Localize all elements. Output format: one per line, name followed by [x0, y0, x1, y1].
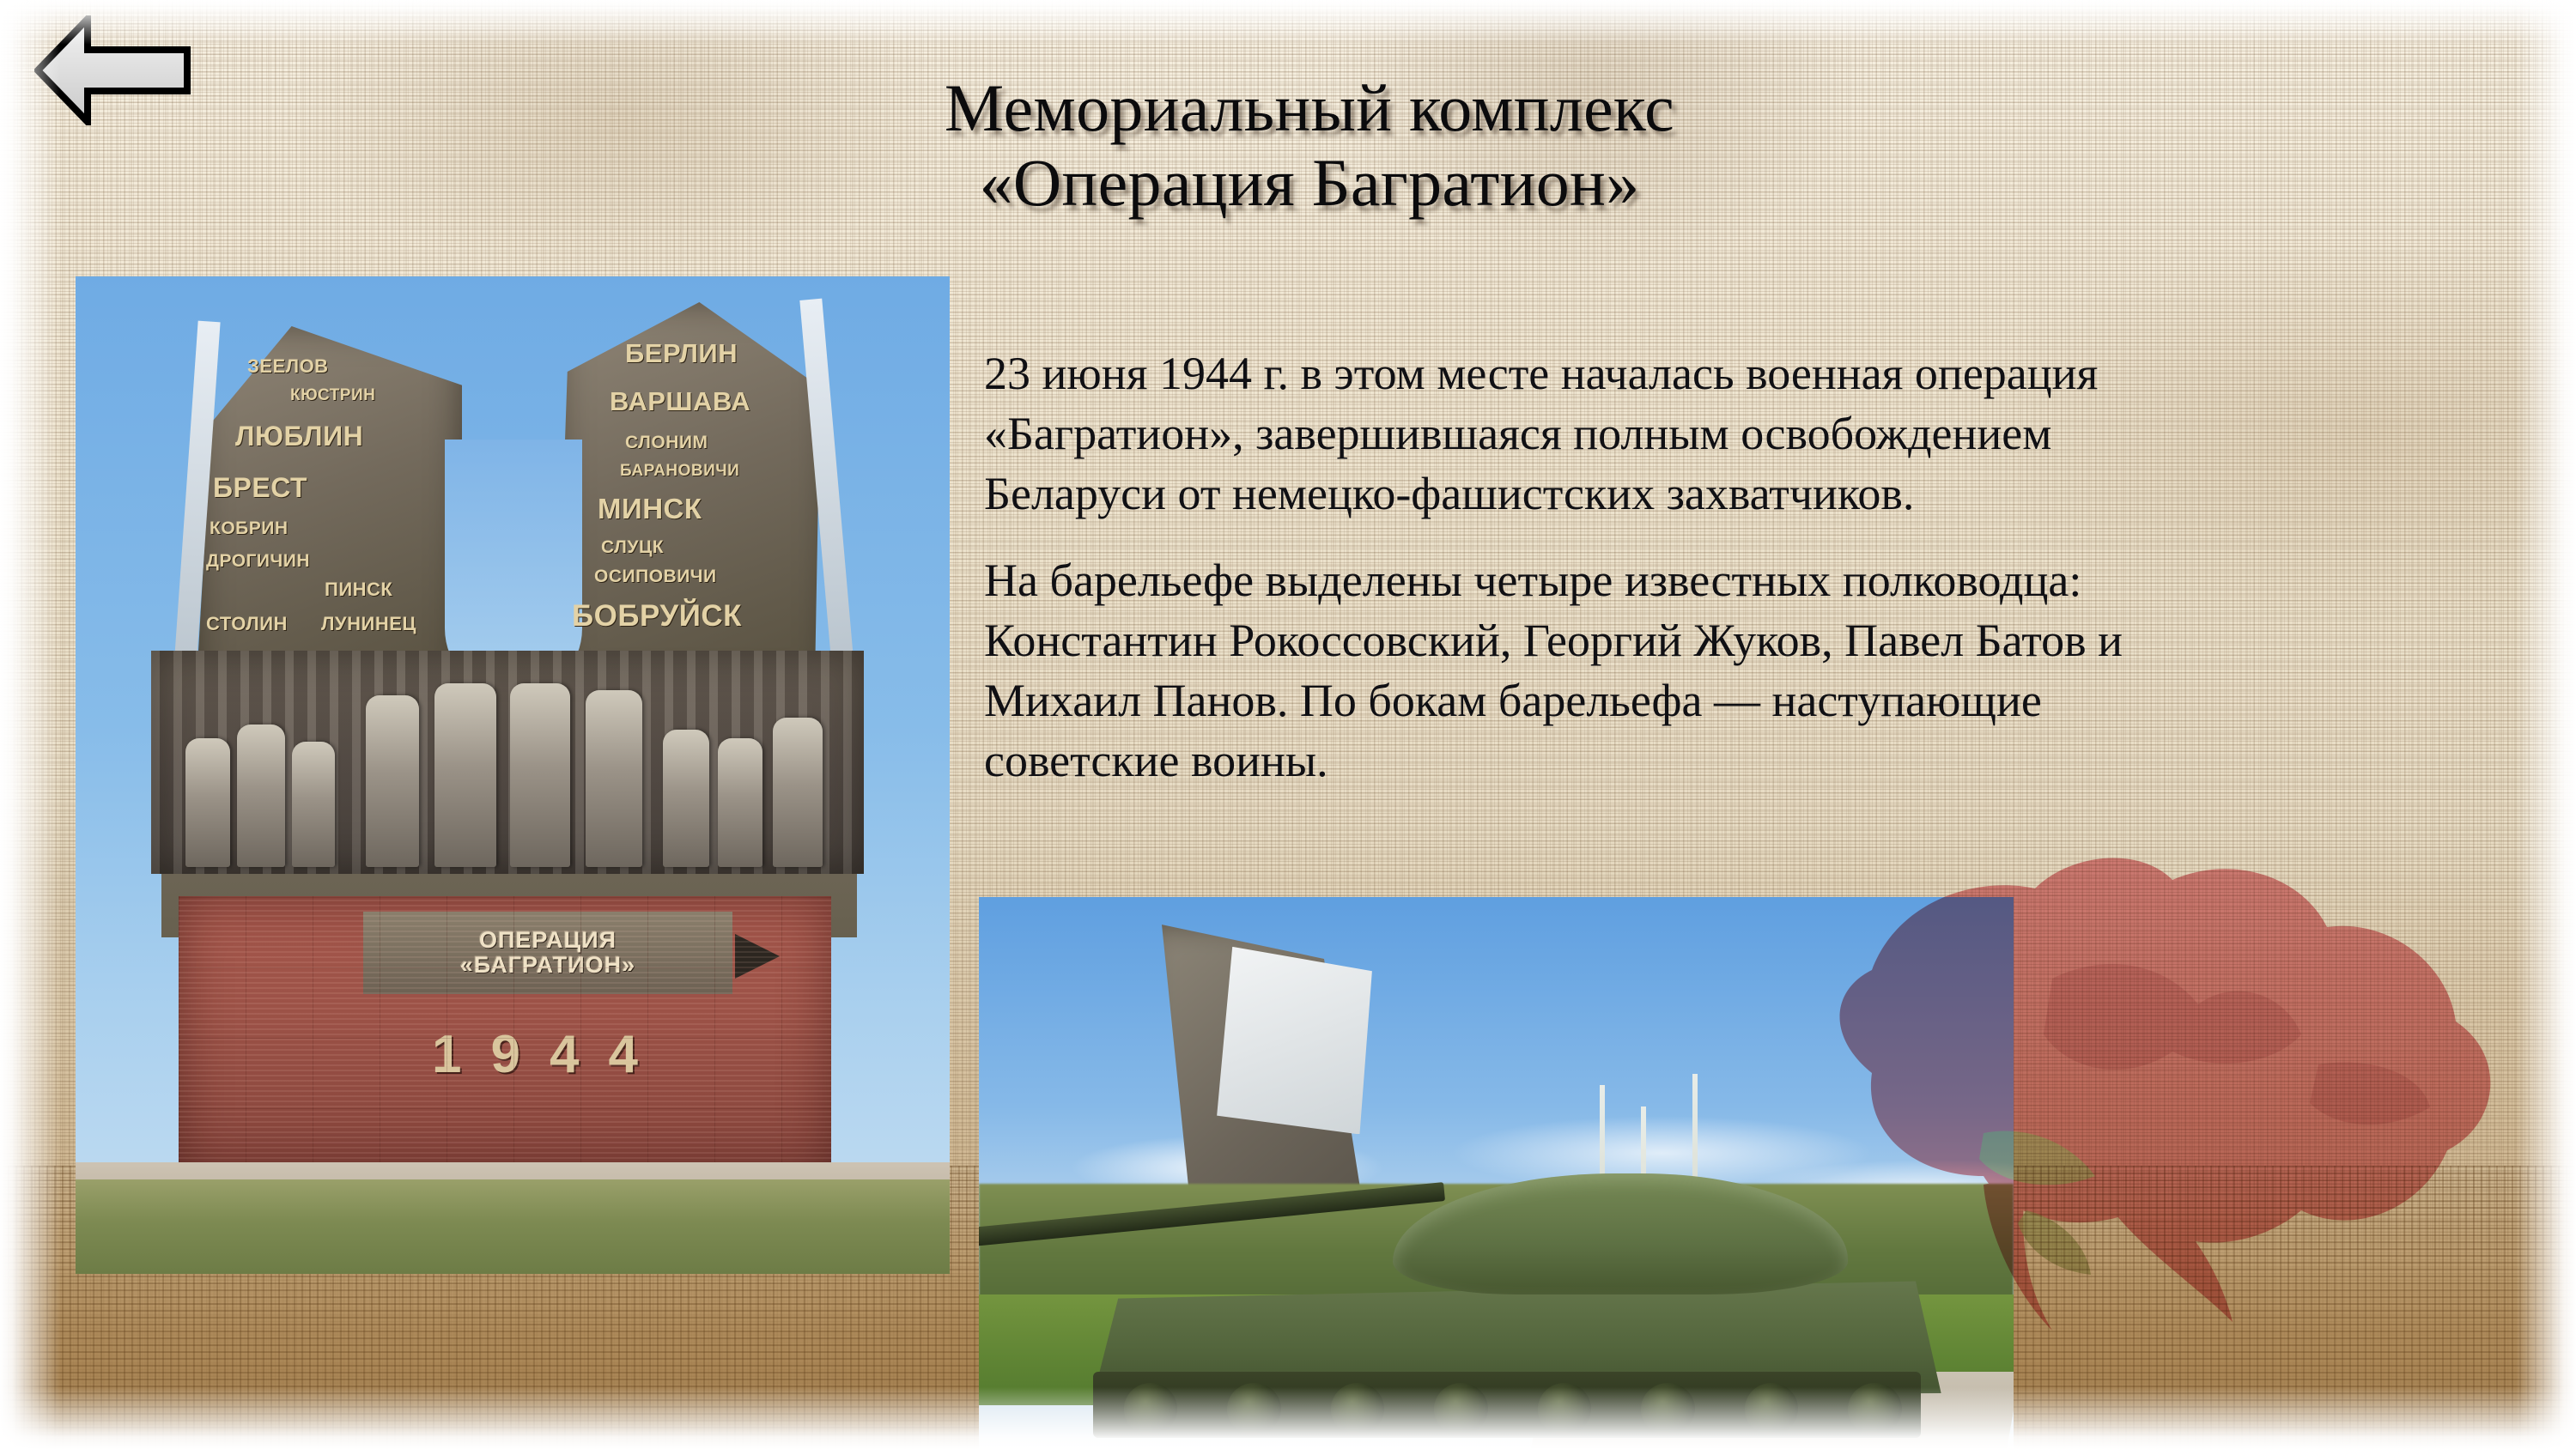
title-line-2: «Операция Багратион» [773, 145, 1846, 220]
plaque-slutsk: СЛУЦК [601, 537, 664, 558]
body-text: 23 июня 1944 г. в этом месте началась во… [984, 343, 2196, 791]
relief-commander-zhukov [434, 683, 496, 867]
tank-photo [979, 897, 2014, 1449]
tank-stele-face [1217, 947, 1372, 1135]
body-paragraph-2: На барельефе выделены четыре известных п… [984, 550, 2196, 791]
relief-commander-panov [586, 690, 642, 867]
tank-road-wheel [1124, 1383, 1178, 1435]
tank-road-wheel [1848, 1383, 1902, 1435]
plaque-kobrin: КОБРИН [210, 518, 289, 539]
pedestal-line-1: ОПЕРАЦИЯ [479, 928, 617, 953]
tank-road-wheel [1227, 1383, 1281, 1435]
monument-photo: ЗЕЕЛОВ КЮСТРИН ЛЮБЛИН БРЕСТ КОБРИН ДРОГИ… [76, 276, 950, 1274]
plaque-varshava: ВАРШАВА [610, 386, 750, 417]
body-paragraph-1: 23 июня 1944 г. в этом месте началась во… [984, 343, 2196, 524]
relief-soldier [237, 724, 285, 867]
plaque-brest: БРЕСТ [213, 472, 307, 504]
pedestal-line-2: «БАГРАТИОН» [460, 953, 635, 978]
slide-root: ЗЕЕЛОВ КЮСТРИН ЛЮБЛИН БРЕСТ КОБРИН ДРОГИ… [0, 0, 2576, 1449]
tank-road-wheel [1434, 1383, 1488, 1435]
relief-soldier [663, 730, 709, 867]
relief-commander-batov [510, 683, 570, 867]
plaque-baranovichi: БАРАНОВИЧИ [620, 462, 739, 481]
plaque-kyustrin: КЮСТРИН [290, 386, 375, 405]
plaque-stolin: СТОЛИН [206, 613, 288, 635]
tank-road-wheel [1745, 1383, 1799, 1435]
plaque-berlin: БЕРЛИН [625, 338, 738, 369]
page-title: Мемориальный комплекс «Операция Багратио… [773, 70, 1846, 221]
year-digit-2: 9 [491, 1028, 520, 1082]
pedestal-arrow-icon [735, 934, 780, 979]
plaque-pinsk: ПИНСК [325, 579, 392, 601]
monument-pedestal: ОПЕРАЦИЯ «БАГРАТИОН» 1 9 4 4 [179, 896, 831, 1179]
pedestal-year: 1 9 4 4 [333, 1023, 737, 1087]
plaque-luninets: ЛУНИНЕЦ [321, 613, 416, 635]
year-digit-3: 4 [550, 1028, 579, 1082]
relief-soldier [718, 738, 762, 867]
year-digit-1: 1 [432, 1028, 461, 1082]
tank-road-wheel [1538, 1383, 1592, 1435]
monument-grass [76, 1179, 950, 1274]
plaque-slonim: СЛОНИМ [625, 433, 708, 453]
pedestal-inscription: ОПЕРАЦИЯ «БАГРАТИОН» [363, 912, 732, 994]
plaque-osipovichi: ОСИПОВИЧИ [594, 567, 717, 587]
relief-soldier [292, 742, 335, 867]
relief-soldier [185, 738, 230, 867]
plaque-zeelov: ЗЕЕЛОВ [247, 355, 329, 378]
plaque-drogichin: ДРОГИЧИН [206, 551, 310, 572]
year-digit-4: 4 [608, 1028, 637, 1082]
relief-commander-rokossovsky [366, 695, 419, 867]
back-arrow-icon[interactable] [34, 15, 191, 125]
monument-bas-relief [151, 651, 864, 874]
relief-soldier [773, 718, 823, 867]
tank-road-wheel [1641, 1383, 1695, 1435]
plaque-bobruysk: БОБРУЙСК [572, 599, 742, 634]
tank-road-wheel [1331, 1383, 1385, 1435]
title-line-1: Мемориальный комплекс [945, 70, 1674, 145]
plaque-minsk: МИНСК [598, 493, 702, 525]
plaque-lyublin: ЛЮБЛИН [235, 421, 363, 452]
